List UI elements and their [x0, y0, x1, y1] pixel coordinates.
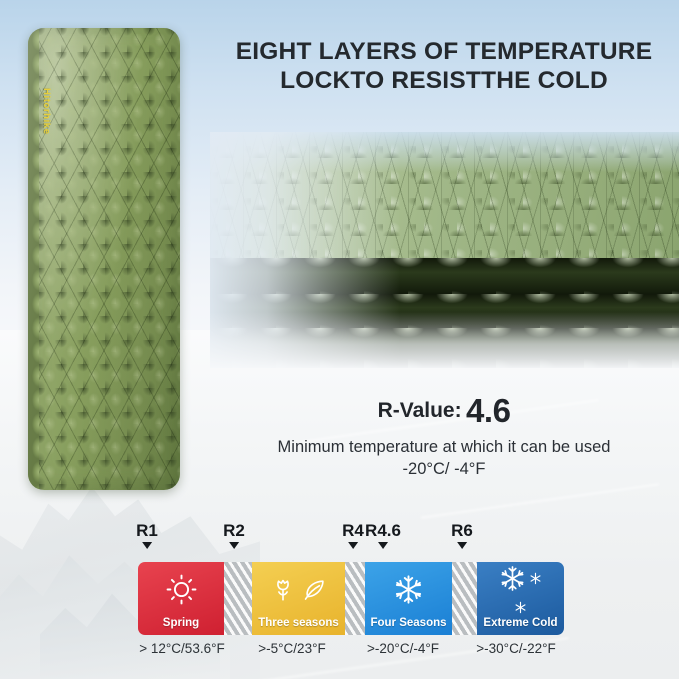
segment-icons — [270, 562, 327, 617]
tulip-icon — [270, 577, 296, 603]
temperature-range-label: >-20°C/-4°F — [367, 641, 439, 656]
scale-marker-r4-6: R4.6 — [365, 522, 401, 549]
marker-label: R2 — [223, 522, 245, 539]
triangle-down-icon — [142, 542, 152, 549]
scale-divider — [345, 562, 365, 635]
segment-icons — [492, 562, 550, 617]
temperature-range-label: > 12°C/53.6°F — [139, 641, 224, 656]
scale-marker-r1: R1 — [136, 522, 158, 549]
marker-label: R1 — [136, 522, 158, 539]
scale-marker-r4: R4 — [342, 522, 364, 549]
segment-label: Three seasons — [258, 617, 339, 629]
leaf-icon — [301, 577, 327, 603]
scale-segment-extreme-cold[interactable]: Extreme Cold — [477, 562, 564, 635]
segment-label: Spring — [163, 617, 199, 629]
scale-segment-spring[interactable]: Spring — [138, 562, 224, 635]
scale-marker-r2: R2 — [223, 522, 245, 549]
triangle-down-icon — [457, 542, 467, 549]
snowflake-large-icon — [499, 565, 526, 592]
temperature-range-label: >-30°C/-22°F — [476, 641, 555, 656]
r-value-subtitle: Minimum temperature at which it can be u… — [218, 437, 670, 481]
r-value-label: R-Value: — [378, 399, 462, 422]
r-value-headline: R-Value: 4.6 — [218, 392, 670, 430]
scale-marker-r6: R6 — [451, 522, 473, 549]
snowflake-icon — [393, 574, 424, 605]
image-fade-bottom — [210, 312, 679, 368]
segment-label: Extreme Cold — [483, 617, 557, 629]
triangle-down-icon — [378, 542, 388, 549]
layered-mattress-image — [210, 132, 679, 368]
temperature-scale-bar: SpringThree seasonsFour SeasonsExtreme C… — [138, 562, 564, 635]
snowflake-small-icon — [529, 572, 542, 585]
page-title-line-1: EIGHT LAYERS OF TEMPERATURE — [218, 38, 670, 67]
page-title: EIGHT LAYERS OF TEMPERATURE LOCKTO RESIS… — [218, 38, 670, 95]
r-value-subtitle-line-1: Minimum temperature at which it can be u… — [218, 437, 670, 459]
infographic-page: Hitorhike EIGHT LAYERS OF TEMPERATURE LO… — [0, 0, 679, 679]
r-value-block: R-Value: 4.6 Minimum temperature at whic… — [218, 392, 670, 481]
scale-segment-four-seasons[interactable]: Four Seasons — [365, 562, 452, 635]
marker-label: R4 — [342, 522, 364, 539]
triangle-down-icon — [229, 542, 239, 549]
marker-label: R4.6 — [365, 522, 401, 539]
segment-label: Four Seasons — [370, 617, 446, 629]
scale-divider — [452, 562, 477, 635]
triangle-down-icon — [348, 542, 358, 549]
r-value-number: 4.6 — [466, 392, 510, 429]
r-value-subtitle-line-2: -20°C/ -4°F — [218, 459, 670, 481]
segment-icons — [393, 562, 424, 617]
temperature-range-label: >-5°C/23°F — [258, 641, 325, 656]
brand-logo: Hitorhike — [41, 88, 52, 135]
sun-icon — [166, 574, 197, 605]
segment-icons — [166, 562, 197, 617]
scale-segment-three-seasons[interactable]: Three seasons — [252, 562, 345, 635]
scale-divider — [224, 562, 252, 635]
temperature-range-labels: > 12°C/53.6°F>-5°C/23°F>-20°C/-4°F>-30°C… — [120, 641, 570, 665]
product-sleeping-pad-image: Hitorhike — [28, 28, 180, 490]
snowflake-small-icon — [514, 601, 527, 614]
page-title-line-2: LOCKTO RESISTTHE COLD — [218, 67, 670, 96]
marker-label: R6 — [451, 522, 473, 539]
